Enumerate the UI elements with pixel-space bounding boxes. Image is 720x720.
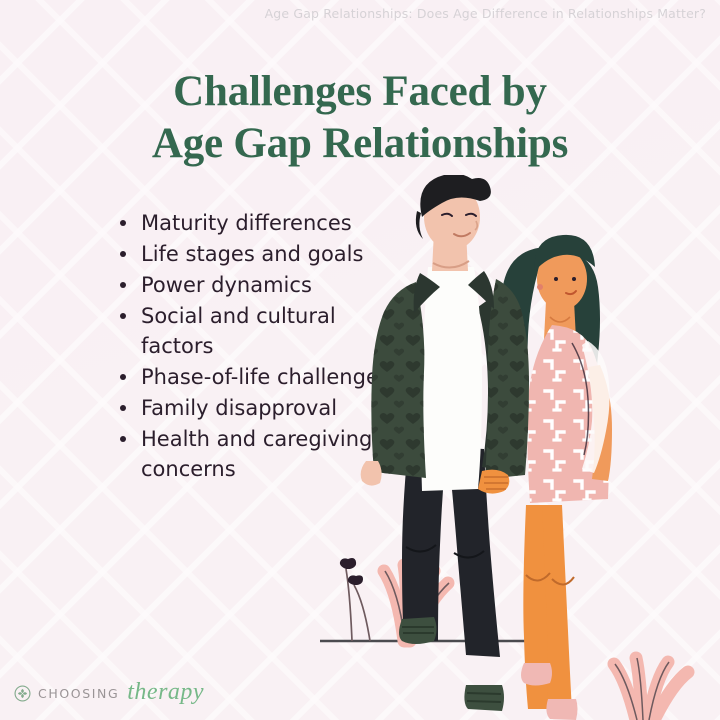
man-hand-left xyxy=(361,461,382,486)
man-shoe-left xyxy=(399,617,437,644)
flower-circle-icon xyxy=(14,685,31,702)
man-shoe-right xyxy=(464,685,504,711)
man-hand xyxy=(478,470,509,494)
couple-illustration xyxy=(300,175,720,720)
page-title-line-1: Challenges Faced by xyxy=(173,68,547,115)
plant-right xyxy=(614,658,688,720)
logo-word-choosing: CHOOSING xyxy=(38,686,119,701)
man-figure xyxy=(360,175,538,711)
brand-logo[interactable]: CHOOSING therapy xyxy=(14,680,204,707)
man-shirt xyxy=(421,267,482,491)
woman-earring xyxy=(537,284,543,290)
list-item-label: Power dynamics xyxy=(141,273,312,297)
article-kicker: Age Gap Relationships: Does Age Differen… xyxy=(0,6,706,21)
infographic-canvas: Age Gap Relationships: Does Age Differen… xyxy=(0,0,720,720)
page-title: Challenges Faced by Age Gap Relationship… xyxy=(0,66,720,171)
woman-shoe-left xyxy=(521,663,552,686)
logo-word-therapy: therapy xyxy=(127,679,204,706)
page-title-line-2: Age Gap Relationships xyxy=(0,118,720,170)
woman-shoe-right xyxy=(546,699,577,720)
